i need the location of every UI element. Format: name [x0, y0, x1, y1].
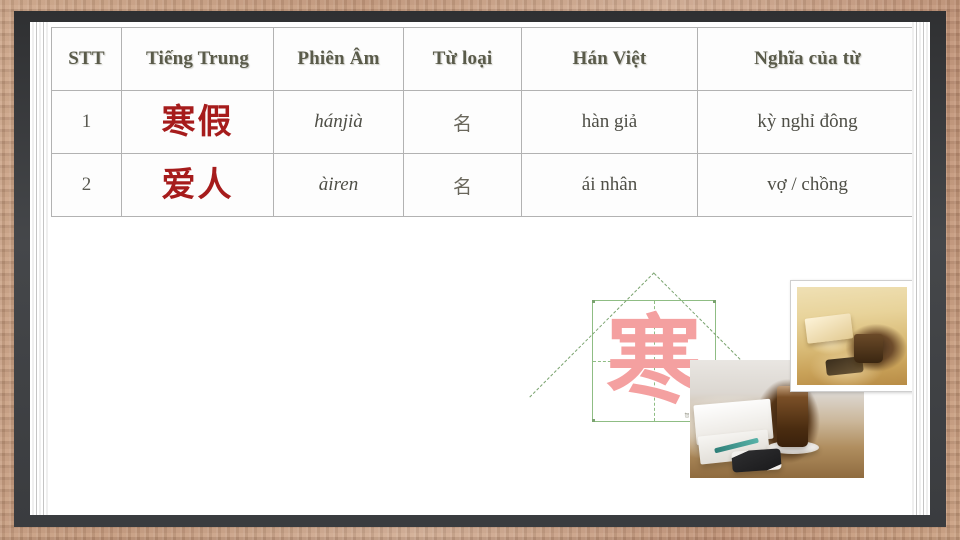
sheet-edge-r4: [916, 22, 917, 515]
column-header-nghia: Nghĩa của từ: [698, 28, 913, 91]
cell-tu-loai: 名: [404, 91, 522, 154]
cell-han-viet: hàn giả: [522, 91, 698, 154]
cell-stt: 2: [52, 154, 122, 217]
slide-canvas: STT Tiếng Trung Phiên Âm Từ loại Hán Việ…: [0, 0, 960, 540]
column-header-phien-am: Phiên Âm: [274, 28, 404, 91]
photo-desk-sepia-image: [797, 287, 907, 385]
cell-nghia: vợ / chồng: [698, 154, 913, 217]
cell-hanzi: 寒假: [122, 91, 274, 154]
cell-tu-loai: 名: [404, 154, 522, 217]
sheet-edge-r5: [912, 22, 914, 515]
sheet-edge-r2: [923, 22, 924, 515]
photo-sepia-phone: [825, 356, 864, 375]
cell-pinyin: àiren: [274, 154, 404, 217]
cell-pinyin: hánjià: [274, 91, 404, 154]
photo-desk-sepia: [790, 280, 912, 392]
column-header-stt: STT: [52, 28, 122, 91]
sheet-edge-r1: [926, 22, 928, 515]
slide-page: STT Tiếng Trung Phiên Âm Từ loại Hán Việ…: [48, 22, 912, 515]
column-header-tu-loai: Từ loại: [404, 28, 522, 91]
cell-nghia: kỳ nghỉ đông: [698, 91, 913, 154]
cell-stt: 1: [52, 91, 122, 154]
table-row: 1 寒假 hánjià 名 hàn giả kỳ nghỉ đông: [52, 91, 913, 154]
photo-phone: [731, 448, 781, 473]
table-row: 2 爱人 àiren 名 ái nhân vợ / chồng: [52, 154, 913, 217]
sheet-edge-3: [39, 22, 41, 515]
cell-hanzi: 爱人: [122, 154, 274, 217]
column-header-han-viet: Hán Việt: [522, 28, 698, 91]
cell-han-viet: ái nhân: [522, 154, 698, 217]
sheet-edge-2: [36, 22, 37, 515]
sheet-edge-r3: [919, 22, 921, 515]
sheet-edge-4: [43, 22, 44, 515]
table-header-row: STT Tiếng Trung Phiên Âm Từ loại Hán Việ…: [52, 28, 913, 91]
photo-latte-glass: [777, 386, 808, 447]
sheet-edge-1: [32, 22, 34, 515]
vocabulary-table: STT Tiếng Trung Phiên Âm Từ loại Hán Việ…: [51, 27, 912, 217]
column-header-tieng-trung: Tiếng Trung: [122, 28, 274, 91]
